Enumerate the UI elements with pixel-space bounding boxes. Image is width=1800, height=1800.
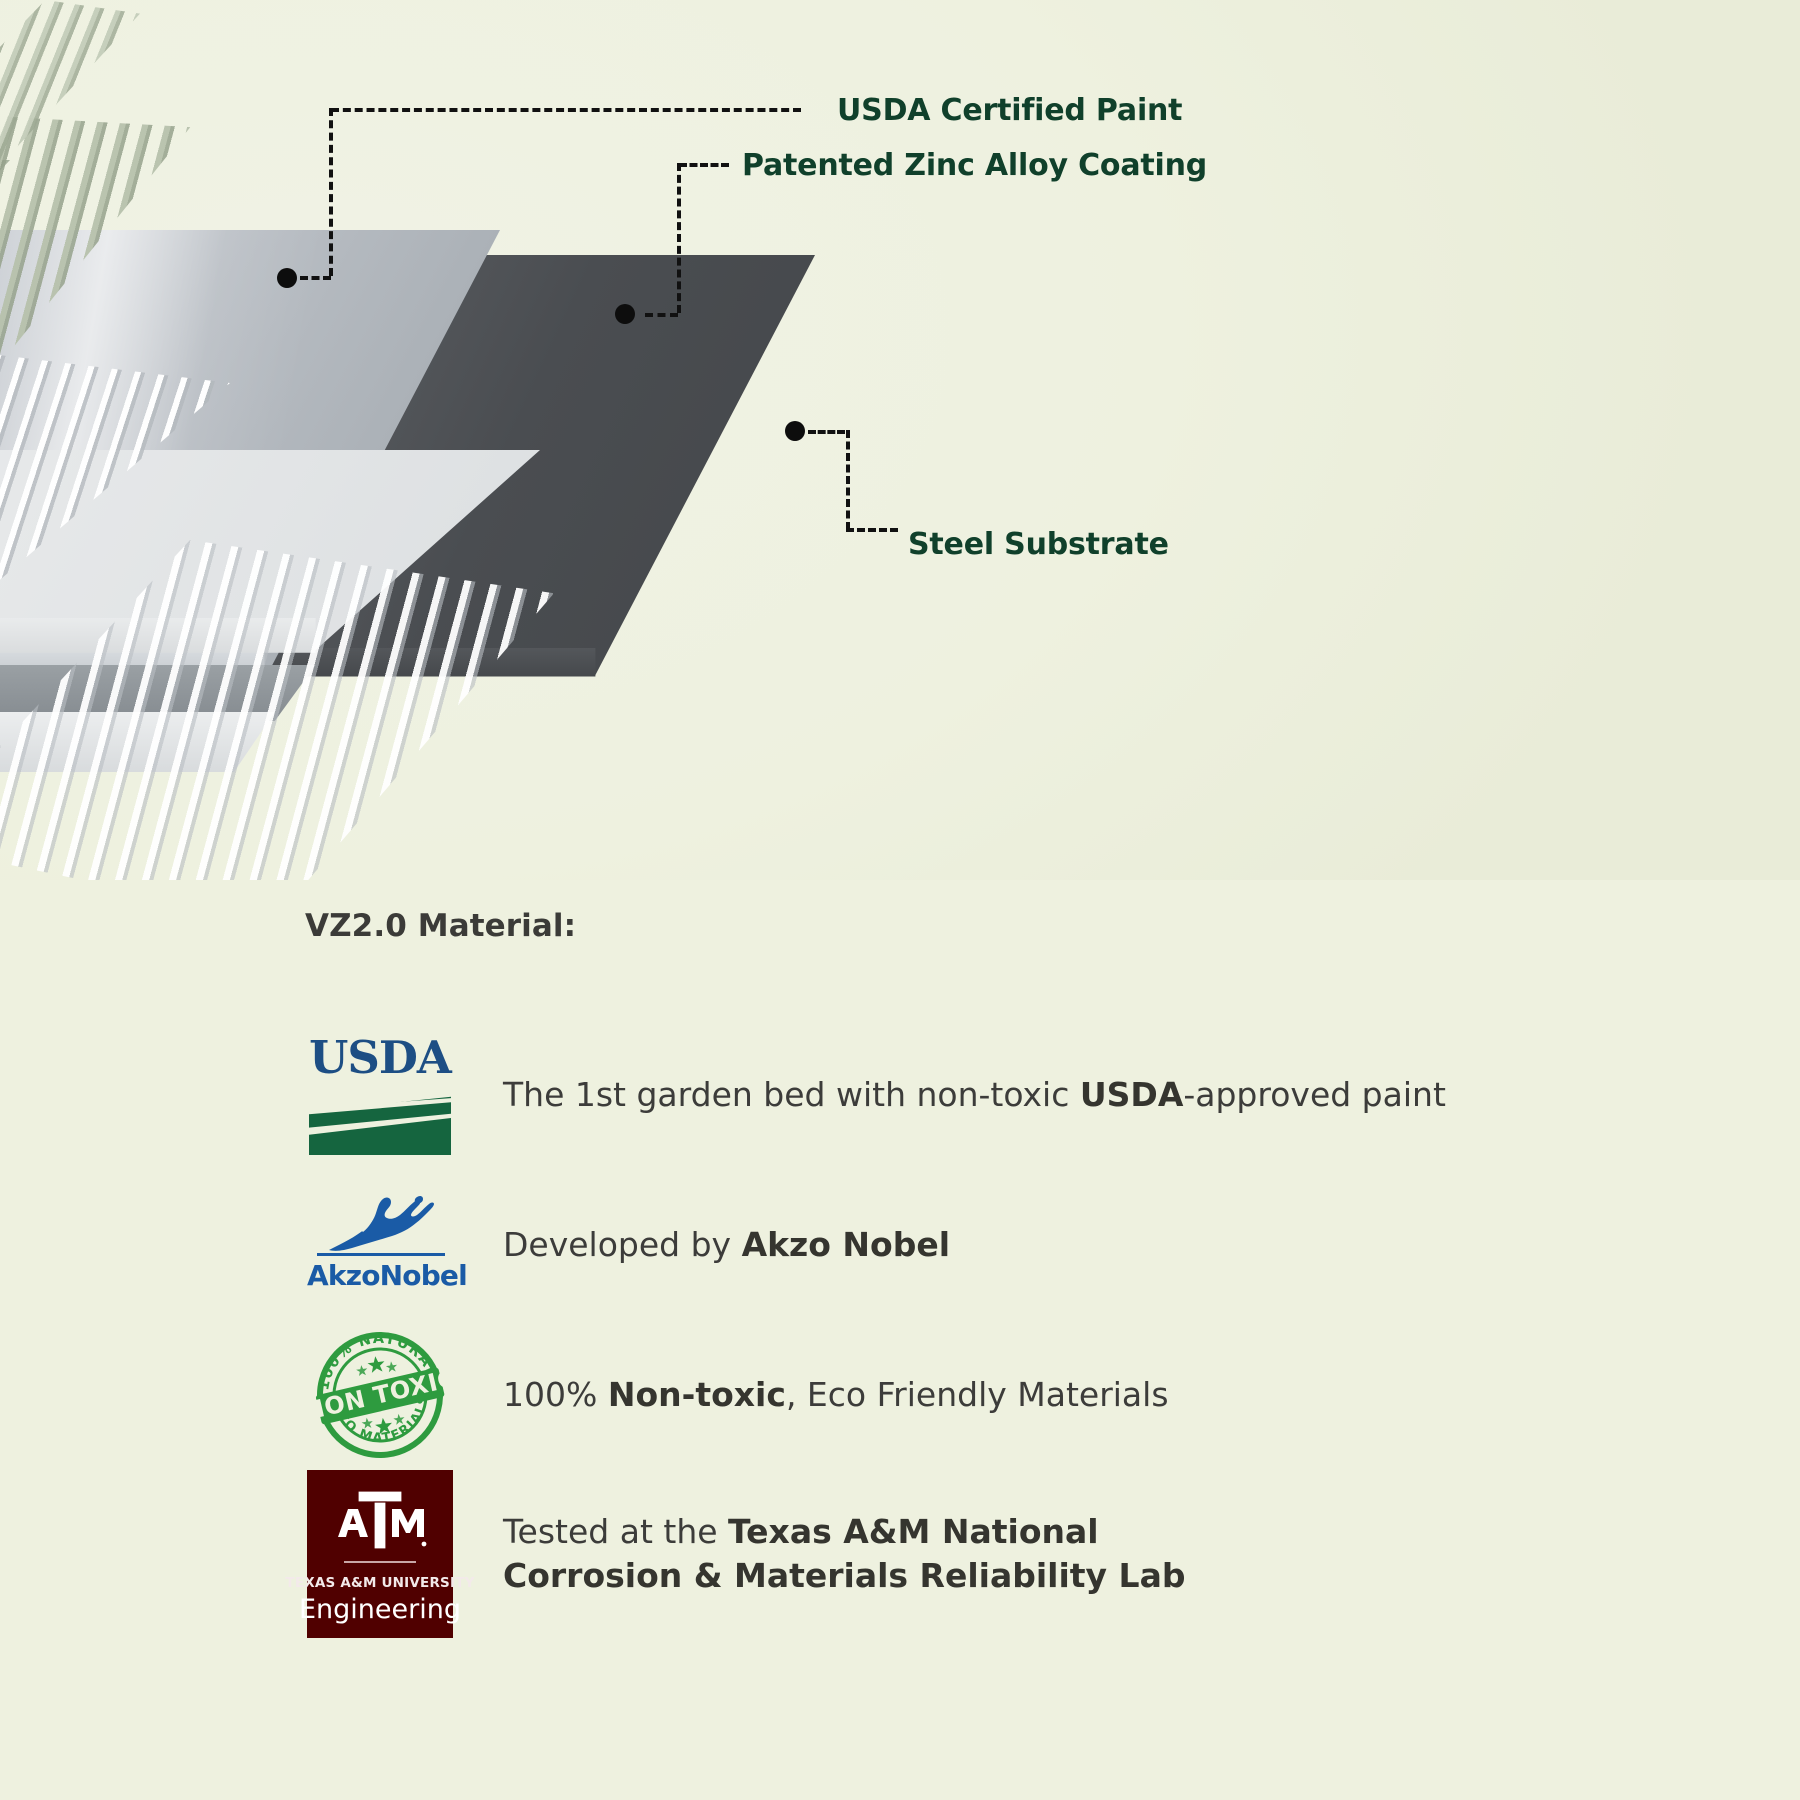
leader-dot — [615, 304, 635, 324]
akzonobel-figure-icon — [321, 1193, 439, 1255]
callout-label-steel-substrate: Steel Substrate — [908, 527, 1169, 562]
leader-vertical — [677, 163, 681, 313]
texas-am-logo-divider — [344, 1561, 416, 1563]
feature-text-part: -approved paint — [1183, 1075, 1446, 1114]
callout-label-patented-zinc-alloy-coating: Patented Zinc Alloy Coating — [742, 148, 1207, 183]
leader-dot — [277, 268, 297, 288]
leader-horizontal — [846, 528, 898, 532]
list-item: USDA The 1st garden bed with non-toxic U… — [305, 1020, 1505, 1170]
feature-text: Tested at the Texas A&M National Corrosi… — [455, 1510, 1223, 1597]
leader-horizontal — [331, 108, 801, 112]
layer-stack — [0, 120, 1080, 760]
leader-stub — [645, 313, 678, 317]
feature-text-part: Tested at the — [503, 1512, 728, 1551]
leader-horizontal — [679, 163, 729, 167]
list-item: AkzoNobel Developed by Akzo Nobel — [305, 1170, 1505, 1320]
list-item: TEXAS A&M UNIVERSITY Engineering Tested … — [305, 1470, 1505, 1638]
leader-stub-top — [808, 430, 845, 434]
non-toxic-stamp-cell: 100% NATURAL ECO MATERIALS — [305, 1322, 455, 1468]
feature-text-part: , Eco Friendly Materials — [786, 1375, 1169, 1414]
atm-monogram-icon — [332, 1489, 428, 1551]
usda-logo-cell: USDA — [305, 1035, 455, 1155]
material-cross-section-illustration: USDA Certified Paint Patented Zinc Alloy… — [0, 0, 1800, 880]
page-root: USDA Certified Paint Patented Zinc Alloy… — [0, 0, 1800, 1800]
leader-stub — [300, 276, 331, 280]
texas-am-engineering-logo: TEXAS A&M UNIVERSITY Engineering — [307, 1470, 453, 1638]
feature-text-part: 100% — [503, 1375, 608, 1414]
list-item: 100% NATURAL ECO MATERIALS — [305, 1320, 1505, 1470]
feature-text-part-bold: USDA — [1080, 1075, 1184, 1114]
leader-vertical — [329, 108, 333, 276]
feature-text-part: The 1st garden bed with non-toxic — [503, 1075, 1080, 1114]
callout-label-usda-certified-paint: USDA Certified Paint — [837, 93, 1182, 128]
texas-am-logo-cell: TEXAS A&M UNIVERSITY Engineering — [305, 1470, 455, 1638]
section-title: VZ2.0 Material: — [305, 908, 576, 944]
feature-list: USDA The 1st garden bed with non-toxic U… — [305, 1020, 1505, 1638]
leader-dot — [785, 421, 805, 441]
texas-am-university-label: TEXAS A&M UNIVERSITY — [285, 1575, 474, 1591]
akzonobel-logo-cell: AkzoNobel — [305, 1193, 455, 1297]
usda-logo-wordmark: USDA — [307, 1035, 453, 1080]
feature-text: 100% Non-toxic, Eco Friendly Materials — [455, 1373, 1169, 1417]
feature-text: Developed by Akzo Nobel — [455, 1223, 950, 1267]
non-toxic-stamp-icon: 100% NATURAL ECO MATERIALS — [307, 1322, 453, 1468]
usda-logo: USDA — [307, 1035, 453, 1155]
feature-text-part: Developed by — [503, 1225, 742, 1264]
texas-am-school-label: Engineering — [299, 1594, 461, 1625]
akzonobel-logo: AkzoNobel — [307, 1193, 453, 1297]
feature-text-part-bold: Non-toxic — [608, 1375, 786, 1414]
feature-text-part-bold: Akzo Nobel — [742, 1225, 950, 1264]
leader-vertical — [846, 430, 850, 530]
akzonobel-logo-rule — [317, 1253, 445, 1256]
feature-text: The 1st garden bed with non-toxic USDA-a… — [455, 1073, 1446, 1117]
akzonobel-logo-wordmark: AkzoNobel — [307, 1259, 453, 1292]
